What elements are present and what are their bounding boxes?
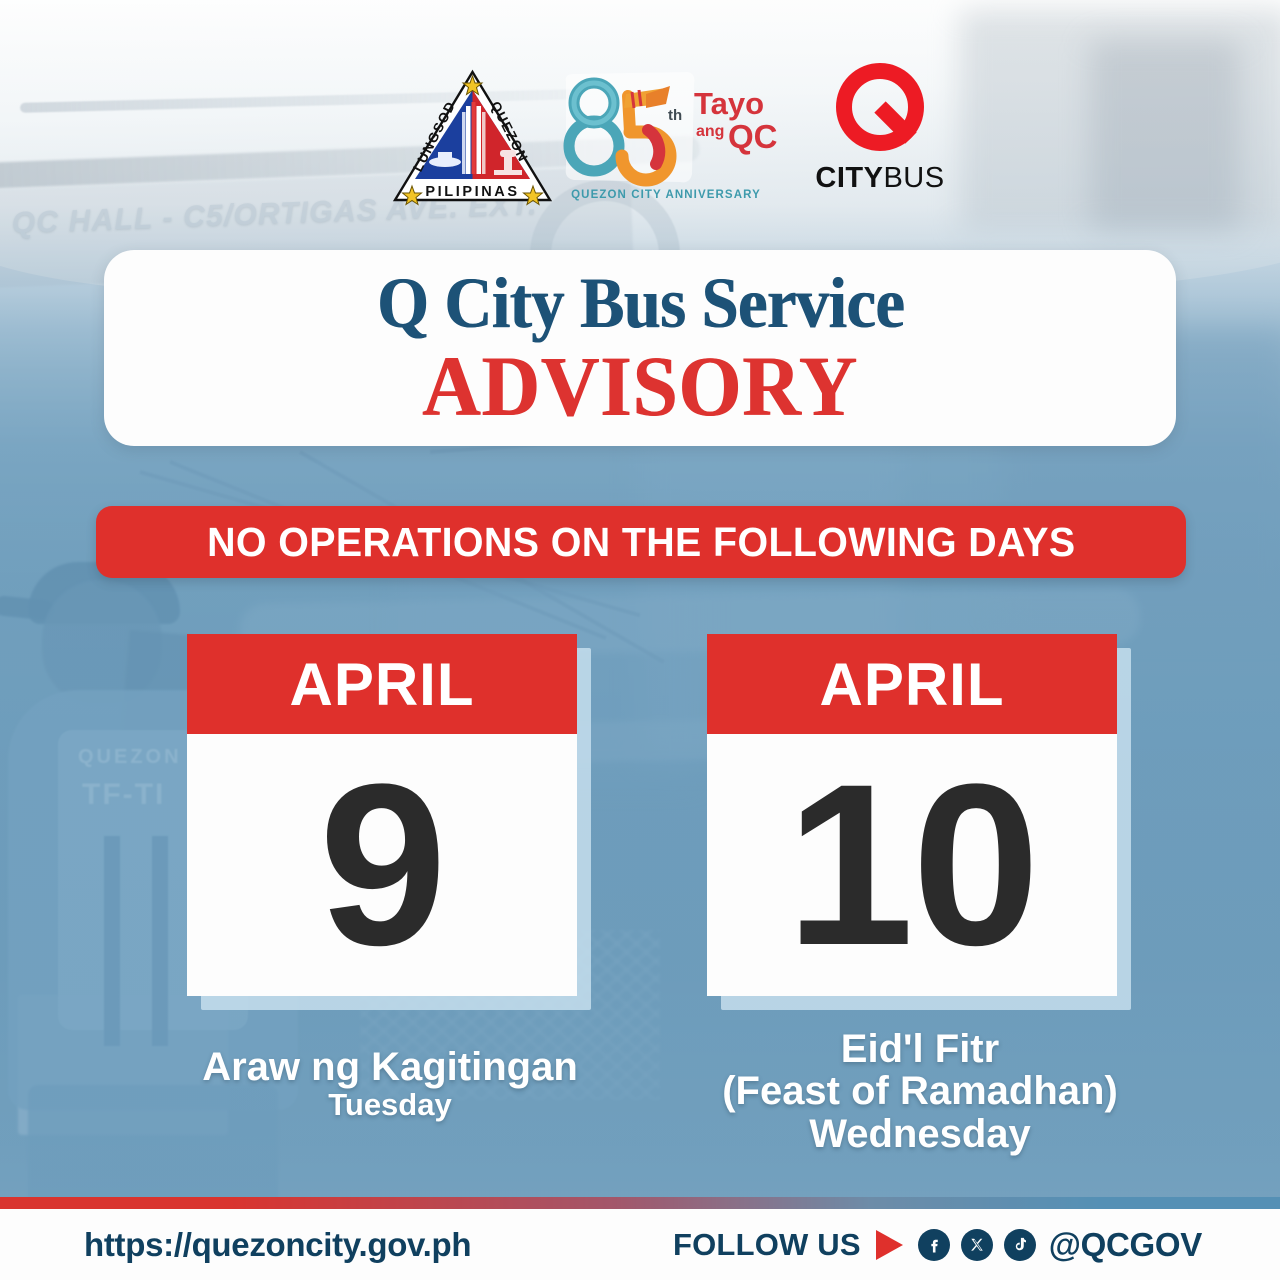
svg-text:PILIPINAS: PILIPINAS <box>425 184 519 200</box>
holiday-caption: Eid'l Fitr (Feast of Ramadhan) Wednesday <box>660 1028 1180 1155</box>
logo-row: LUNGSOD QUEZON PILIPINAS <box>0 52 1280 212</box>
tiktok-icon[interactable] <box>1004 1229 1036 1261</box>
facebook-icon[interactable] <box>918 1229 950 1261</box>
holiday-caption: Araw ng Kagitingan Tuesday <box>110 1046 670 1122</box>
calendar-cards: APRIL 9 APRIL 10 <box>0 634 1280 1034</box>
no-operations-banner: NO OPERATIONS ON THE FOLLOWING DAYS <box>96 506 1186 578</box>
citybus-logo: CITYBUS <box>800 60 960 210</box>
advisory-poster: QC HALL - C5/ORTIGAS AVE. EXT. QUEZON TF… <box>0 0 1280 1280</box>
play-triangle-icon <box>876 1230 903 1260</box>
svg-text:th: th <box>668 107 682 124</box>
page-subtitle-advisory: ADVISORY <box>422 343 858 429</box>
svg-text:QC: QC <box>728 118 777 155</box>
follow-us-label: FOLLOW US <box>673 1227 861 1263</box>
citybus-word-bus: BUS <box>883 162 944 194</box>
calendar-day-body: 9 <box>187 734 577 996</box>
citybus-wordmark: CITYBUS <box>800 164 960 193</box>
citybus-word-city: CITY <box>815 162 883 194</box>
social-handle: @QCGOV <box>1049 1226 1202 1264</box>
calendar-month-label: APRIL <box>187 634 577 734</box>
follow-us-group: FOLLOW US @QCGOV <box>673 1226 1202 1264</box>
card-inner: APRIL 10 <box>707 634 1117 996</box>
title-card: Q City Bus Service ADVISORY <box>104 250 1176 446</box>
svg-text:QUEZON CITY ANNIVERSARY: QUEZON CITY ANNIVERSARY <box>571 189 761 201</box>
holiday-weekday: Tuesday <box>110 1088 670 1122</box>
citybus-q-icon <box>833 60 927 154</box>
calendar-month-label: APRIL <box>707 634 1117 734</box>
card-inner: APRIL 9 <box>187 634 577 996</box>
svg-text:ang: ang <box>696 123 724 140</box>
holiday-parenthetical: (Feast of Ramadhan) <box>660 1070 1180 1112</box>
calendar-day-number: 9 <box>319 764 445 966</box>
holiday-weekday: Wednesday <box>660 1113 1180 1155</box>
svg-text:Tayo: Tayo <box>694 86 764 121</box>
calendar-card: APRIL 9 <box>187 634 577 996</box>
x-twitter-icon[interactable] <box>961 1229 993 1261</box>
calendar-day-number: 10 <box>786 764 1038 966</box>
banner-text: NO OPERATIONS ON THE FOLLOWING DAYS <box>207 519 1075 566</box>
holiday-name: Araw ng Kagitingan <box>110 1046 670 1088</box>
website-url[interactable]: https://quezoncity.gov.ph <box>84 1226 471 1264</box>
footer-gradient-bar <box>0 1197 1280 1209</box>
page-title: Q City Bus Service <box>376 267 903 339</box>
calendar-day-body: 10 <box>707 734 1117 996</box>
calendar-card: APRIL 10 <box>707 634 1117 996</box>
anniversary-85th-icon: th Tayo ang QC QUEZON CITY ANNIVERSARY <box>562 70 777 204</box>
footer: https://quezoncity.gov.ph FOLLOW US @QCG… <box>0 1209 1280 1280</box>
holiday-name: Eid'l Fitr <box>660 1028 1180 1070</box>
quezon-city-seal-icon: LUNGSOD QUEZON PILIPINAS <box>390 66 555 206</box>
